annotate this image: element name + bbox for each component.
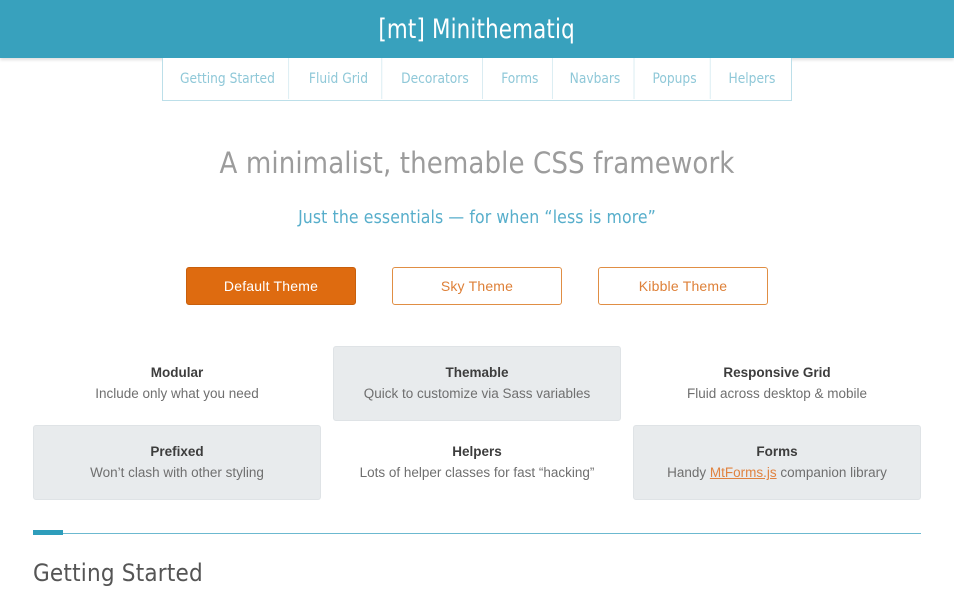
feature-description: Fluid across desktop & mobile [687, 383, 867, 404]
feature-card-forms: Forms Handy MtForms.js companion library [633, 425, 921, 500]
nav-tab-list: Getting Started Fluid Grid Decorators Fo… [162, 58, 792, 101]
feature-desc-suffix: companion library [777, 465, 887, 480]
feature-title: Themable [445, 363, 508, 383]
feature-card-themable: Themable Quick to customize via Sass var… [333, 346, 621, 421]
feature-description: Include only what you need [95, 383, 259, 404]
page-section-heading: Getting Started [33, 559, 203, 587]
default-theme-button[interactable]: Default Theme [186, 267, 356, 305]
feature-description: Lots of helper classes for fast “hacking… [360, 462, 595, 483]
mtforms-js-link[interactable]: MtForms.js [710, 465, 777, 480]
page-root: [mt] Minithematiq Getting Started Fluid … [0, 0, 954, 600]
site-title: [mt] Minithematiq [379, 14, 575, 45]
section-divider-cap [33, 530, 63, 535]
feature-title: Responsive Grid [723, 363, 830, 383]
feature-title: Prefixed [150, 442, 203, 462]
nav-tab-popups[interactable]: Popups [639, 58, 710, 99]
feature-card-modular: Modular Include only what you need [33, 346, 321, 421]
feature-card-helpers: Helpers Lots of helper classes for fast … [333, 425, 621, 500]
feature-card-prefixed: Prefixed Won’t clash with other styling [33, 425, 321, 500]
nav-tab-fluid-grid[interactable]: Fluid Grid [296, 58, 382, 99]
hero-section: A minimalist, themable CSS framework Jus… [0, 140, 954, 228]
feature-title: Forms [756, 442, 797, 462]
section-divider [33, 533, 921, 534]
kibble-theme-button[interactable]: Kibble Theme [598, 267, 768, 305]
main-navbar: Getting Started Fluid Grid Decorators Fo… [0, 58, 954, 101]
feature-title: Helpers [452, 442, 502, 462]
hero-title: A minimalist, themable CSS framework [0, 140, 954, 186]
feature-description: Quick to customize via Sass variables [364, 383, 591, 404]
feature-description: Won’t clash with other styling [90, 462, 264, 483]
feature-grid: Modular Include only what you need Thema… [33, 346, 921, 500]
nav-tab-helpers[interactable]: Helpers [715, 58, 788, 99]
sky-theme-button[interactable]: Sky Theme [392, 267, 562, 305]
nav-tab-navbars[interactable]: Navbars [557, 58, 635, 99]
theme-switcher: Default Theme Sky Theme Kibble Theme [0, 267, 954, 305]
feature-title: Modular [151, 363, 204, 383]
feature-description: Handy MtForms.js companion library [667, 462, 887, 483]
nav-tab-decorators[interactable]: Decorators [388, 58, 483, 99]
nav-tab-forms[interactable]: Forms [488, 58, 552, 99]
feature-card-responsive-grid: Responsive Grid Fluid across desktop & m… [633, 346, 921, 421]
feature-desc-prefix: Handy [667, 465, 710, 480]
nav-tab-getting-started[interactable]: Getting Started [167, 58, 289, 99]
hero-subtitle: Just the essentials — for when “less is … [0, 186, 954, 228]
site-header: [mt] Minithematiq [0, 0, 954, 58]
